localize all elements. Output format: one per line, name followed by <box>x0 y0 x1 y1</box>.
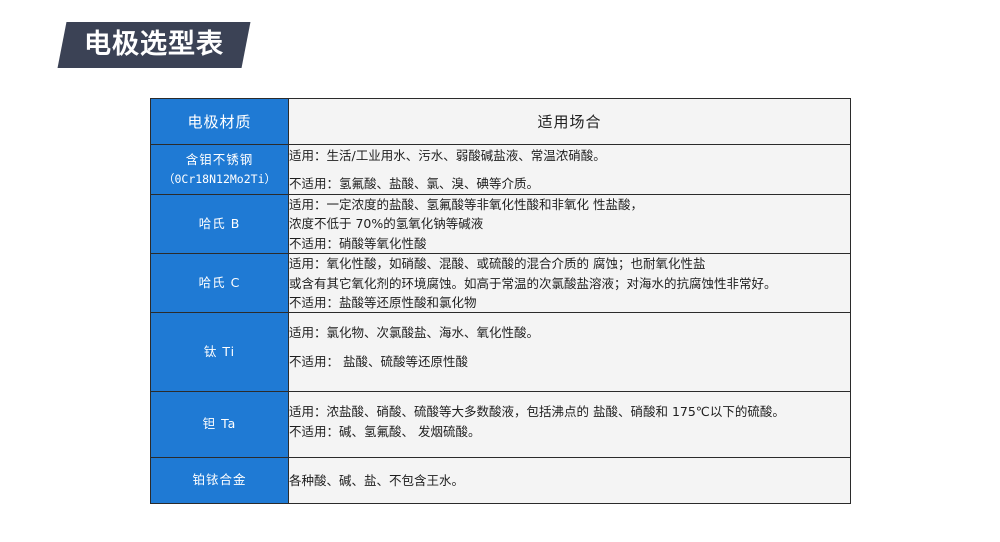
table-header-row: 电极材质 适用场合 <box>151 99 851 145</box>
usage-cell: 各种酸、碱、盐、不包含王水。 <box>289 458 851 504</box>
table-row: 钽 Ta 适用：浓盐酸、硝酸、硫酸等大多数酸液，包括沸点的 盐酸、硝酸和 175… <box>151 392 851 458</box>
usage-line: 适用：氧化性酸，如硝酸、混酸、或硫酸的混合介质的 腐蚀；也耐氧化性盐 <box>289 254 850 273</box>
material-cell: 钛 Ti <box>151 313 289 392</box>
material-cell: 含钼不锈钢 （0Cr18N12Mo2Ti） <box>151 145 289 195</box>
usage-line: 不适用： 盐酸、硫酸等还原性酸 <box>289 352 850 371</box>
column-header-usage: 适用场合 <box>289 99 851 145</box>
usage-line: 不适用：氢氟酸、盐酸、氯、溴、碘等介质。 <box>289 174 850 193</box>
material-name: 铂铱合金 <box>151 470 288 491</box>
usage-line: 浓度不低于 70%的氢氧化钠等碱液 <box>289 214 850 233</box>
usage-line: 适用：生活/工业用水、污水、弱酸碱盐液、常温浓硝酸。 <box>289 146 850 165</box>
page-title: 电极选型表 <box>84 22 224 68</box>
material-name: 哈氏 B <box>151 214 288 235</box>
usage-line: 不适用：硝酸等氧化性酸 <box>289 234 850 253</box>
material-code: （0Cr18N12Mo2Ti） <box>151 170 288 189</box>
usage-line: 各种酸、碱、盐、不包含王水。 <box>289 471 850 490</box>
usage-cell: 适用：氧化性酸，如硝酸、混酸、或硫酸的混合介质的 腐蚀；也耐氧化性盐 或含有其它… <box>289 254 851 313</box>
page-root: 电极选型表 电极材质 适用场合 含钼不锈钢 （0Cr18N12Mo2Ti） <box>0 0 1000 542</box>
usage-line: 不适用：碱、氢氟酸、 发烟硫酸。 <box>289 422 850 441</box>
usage-line: 适用：浓盐酸、硝酸、硫酸等大多数酸液，包括沸点的 盐酸、硝酸和 175℃以下的硫… <box>289 402 850 421</box>
material-cell: 钽 Ta <box>151 392 289 458</box>
table-row: 含钼不锈钢 （0Cr18N12Mo2Ti） 适用：生活/工业用水、污水、弱酸碱盐… <box>151 145 851 195</box>
page-title-banner: 电极选型表 <box>62 22 246 68</box>
usage-line: 适用：氯化物、次氯酸盐、海水、氧化性酸。 <box>289 323 850 342</box>
usage-cell: 适用：浓盐酸、硝酸、硫酸等大多数酸液，包括沸点的 盐酸、硝酸和 175℃以下的硫… <box>289 392 851 458</box>
material-cell: 哈氏 C <box>151 254 289 313</box>
column-header-material: 电极材质 <box>151 99 289 145</box>
material-name: 钛 Ti <box>151 342 288 363</box>
usage-cell: 适用：一定浓度的盐酸、氢氟酸等非氧化性酸和非氧化 性盐酸， 浓度不低于 70%的… <box>289 195 851 254</box>
material-name: 哈氏 C <box>151 273 288 294</box>
usage-line: 适用：一定浓度的盐酸、氢氟酸等非氧化性酸和非氧化 性盐酸， <box>289 195 850 214</box>
electrode-selection-table-wrapper: 电极材质 适用场合 含钼不锈钢 （0Cr18N12Mo2Ti） 适用：生活/工业… <box>150 98 850 504</box>
electrode-selection-table: 电极材质 适用场合 含钼不锈钢 （0Cr18N12Mo2Ti） 适用：生活/工业… <box>150 98 851 504</box>
usage-cell: 适用：生活/工业用水、污水、弱酸碱盐液、常温浓硝酸。 不适用：氢氟酸、盐酸、氯、… <box>289 145 851 195</box>
usage-line: 或含有其它氧化剂的环境腐蚀。如高于常温的次氯酸盐溶液；对海水的抗腐蚀性非常好。 <box>289 274 850 293</box>
table-row: 铂铱合金 各种酸、碱、盐、不包含王水。 <box>151 458 851 504</box>
usage-cell: 适用：氯化物、次氯酸盐、海水、氧化性酸。 不适用： 盐酸、硫酸等还原性酸 <box>289 313 851 392</box>
table-row: 哈氏 B 适用：一定浓度的盐酸、氢氟酸等非氧化性酸和非氧化 性盐酸， 浓度不低于… <box>151 195 851 254</box>
table-row: 钛 Ti 适用：氯化物、次氯酸盐、海水、氧化性酸。 不适用： 盐酸、硫酸等还原性… <box>151 313 851 392</box>
table-row: 哈氏 C 适用：氧化性酸，如硝酸、混酸、或硫酸的混合介质的 腐蚀；也耐氧化性盐 … <box>151 254 851 313</box>
material-name: 含钼不锈钢 <box>151 150 288 171</box>
material-cell: 铂铱合金 <box>151 458 289 504</box>
usage-line: 不适用：盐酸等还原性酸和氯化物 <box>289 293 850 312</box>
banner-shape: 电极选型表 <box>58 22 251 68</box>
material-name: 钽 Ta <box>151 414 288 435</box>
material-cell: 哈氏 B <box>151 195 289 254</box>
